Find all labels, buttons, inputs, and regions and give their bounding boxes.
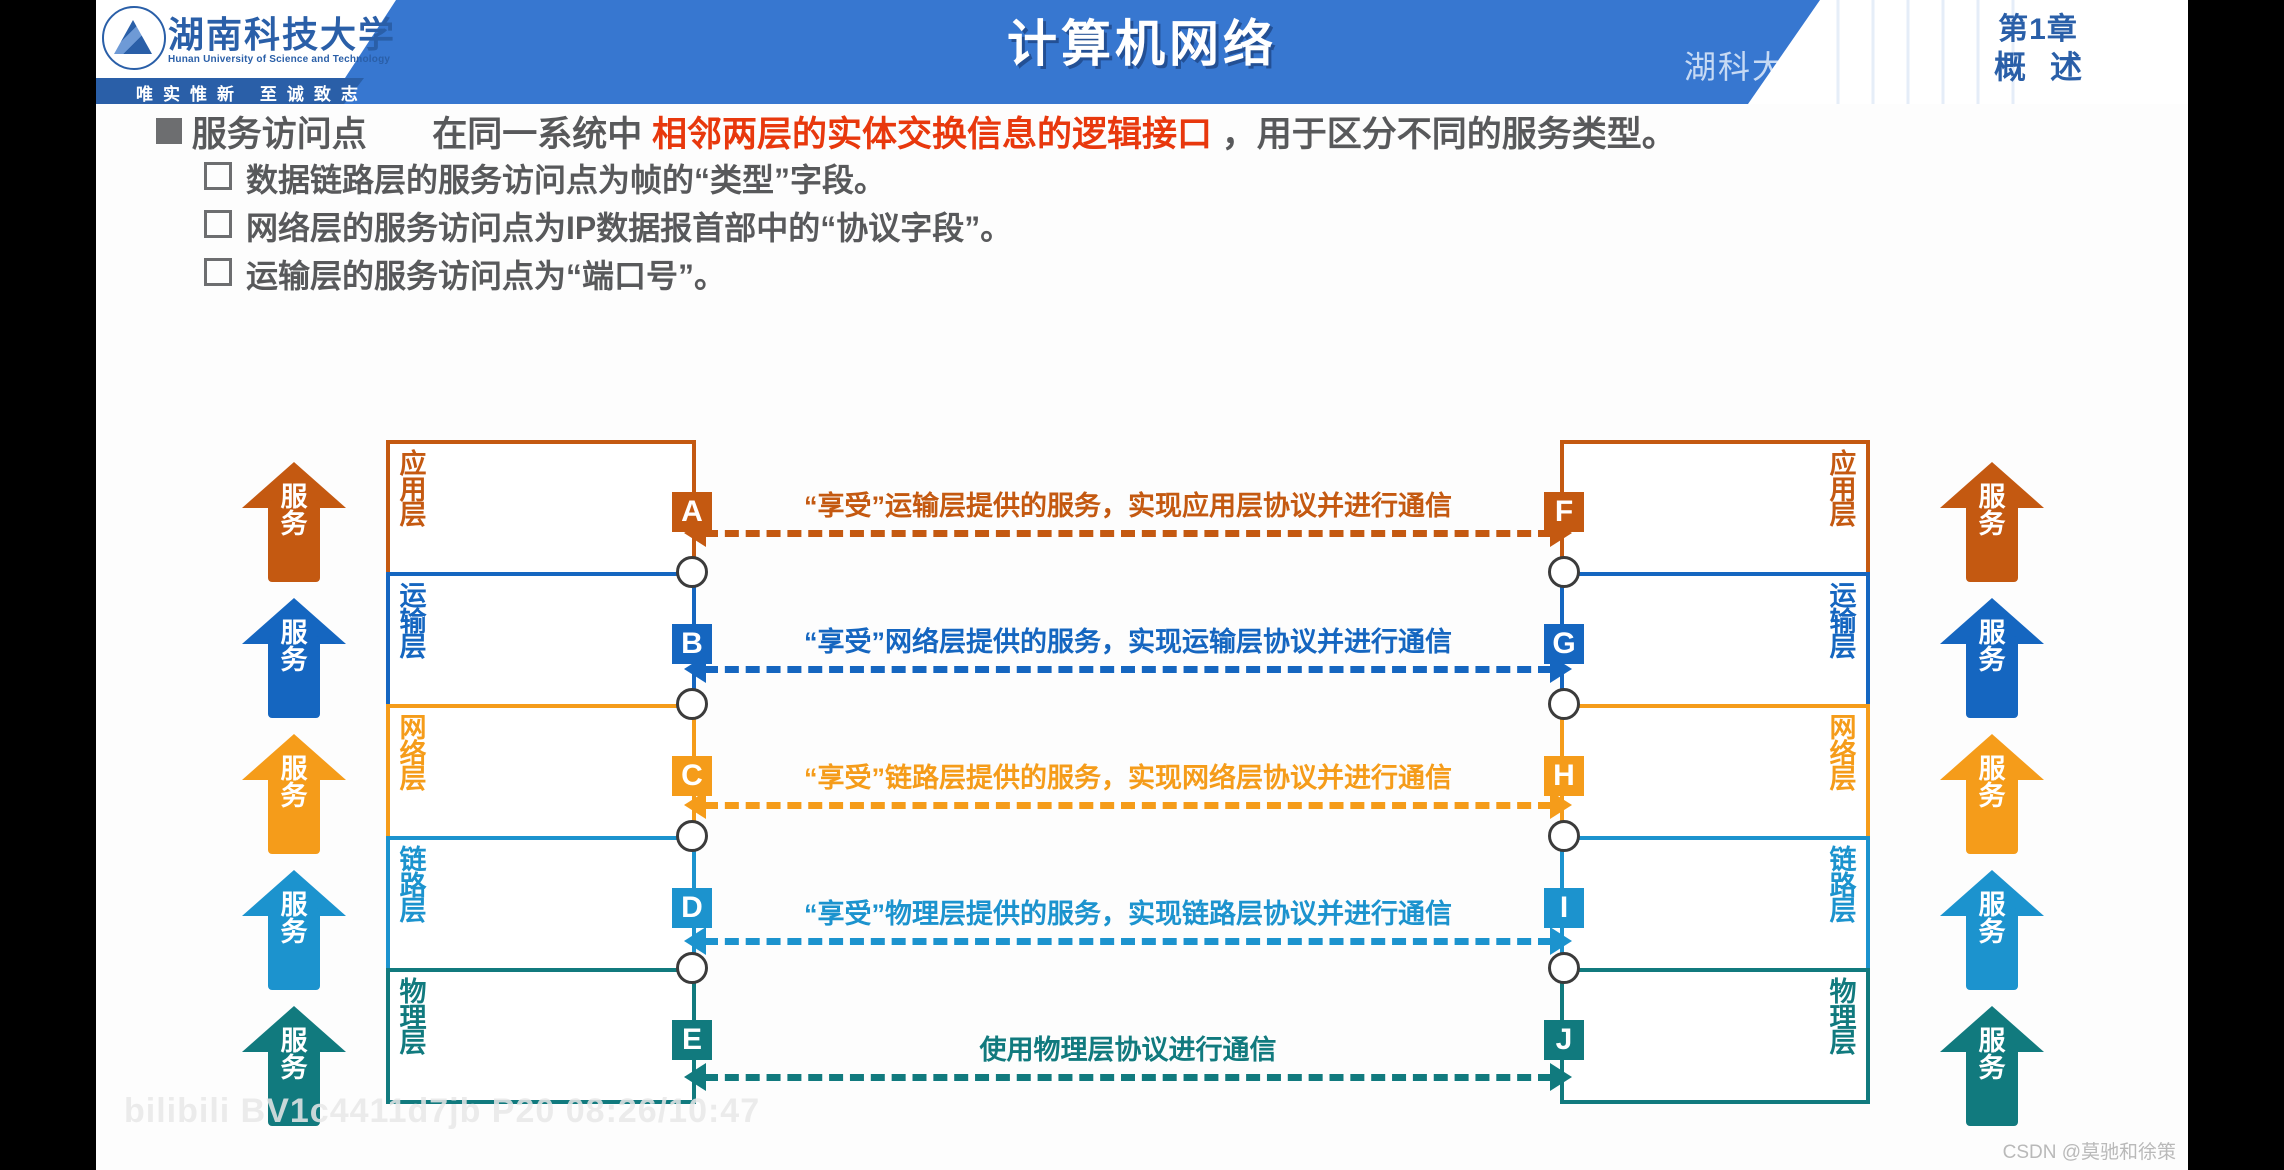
sub-bullet-2: 网络层的服务访问点为IP数据报首部中的“协议字段”。 (204, 203, 1012, 249)
layer-name: 运输层 (1828, 584, 1858, 661)
service-label-char: 务 (1940, 1055, 2044, 1082)
layer-name-char: 层 (1828, 1031, 1858, 1057)
service-label-char: 务 (1940, 783, 2044, 810)
peer-connection-line (704, 802, 1552, 809)
sap-circle-icon (676, 820, 708, 852)
arrow-right-icon (1550, 791, 1572, 819)
layer-box[interactable]: 运输层 B (386, 572, 696, 708)
service-arrow-label: 服务 (242, 756, 346, 810)
layer-name-char: 运 (398, 584, 428, 610)
slide-canvas: 湖南科技大学 Hunan University of Science and T… (96, 0, 2188, 1170)
sub-bullet-3: 运输层的服务访问点为“端口号”。 (204, 251, 726, 297)
layer-box[interactable]: 运输层 G (1560, 572, 1870, 708)
layer-name: 链路层 (398, 848, 428, 925)
bullet-outline-square-icon (204, 210, 232, 238)
layer-name-char: 层 (398, 503, 428, 529)
service-arrow-label: 服务 (242, 1028, 346, 1082)
service-label-char: 务 (242, 1055, 346, 1082)
main-bullet: 服务访问点 在同一系统中 相邻两层的实体交换信息的逻辑接口 ，用于区分不同的服务… (156, 106, 1677, 157)
service-label-char: 务 (1940, 919, 2044, 946)
service-label-char: 服 (1940, 620, 2044, 647)
arrow-left-icon (684, 791, 706, 819)
service-label-char: 服 (1940, 892, 2044, 919)
service-label-char: 服 (1940, 1028, 2044, 1055)
peer-connection-line (704, 530, 1552, 537)
layer-name-char: 应 (1828, 452, 1858, 478)
service-arrow-label: 服务 (1940, 620, 2044, 674)
layer-name-char: 应 (398, 452, 428, 478)
layer-name: 物理层 (398, 980, 428, 1057)
service-arrow-left-1: 服务 (242, 462, 346, 582)
layer-name-char: 层 (1828, 635, 1858, 661)
service-label-char: 服 (242, 756, 346, 783)
arrow-right-icon (1550, 519, 1572, 547)
peer-connection-label: “享受”运输层提供的服务，实现应用层协议并进行通信 (684, 484, 1572, 523)
layer-name: 应用层 (1828, 452, 1858, 529)
arrow-right-icon (1550, 927, 1572, 955)
layer-name-char: 链 (398, 848, 428, 874)
service-label-char: 服 (1940, 756, 2044, 783)
service-label-char: 服 (1940, 484, 2044, 511)
service-arrow-label: 服务 (1940, 756, 2044, 810)
service-arrow-right-4: 服务 (1940, 870, 2044, 990)
bullet-square-icon (156, 118, 182, 144)
service-arrow-label: 服务 (242, 484, 346, 538)
service-label-char: 务 (242, 919, 346, 946)
service-arrow-right-2: 服务 (1940, 598, 2044, 718)
peer-connection-line (704, 938, 1552, 945)
bullet-outline-square-icon (204, 258, 232, 286)
service-label-char: 务 (1940, 647, 2044, 674)
service-arrow-label: 服务 (242, 892, 346, 946)
layer-box[interactable]: 物理层 E (386, 968, 696, 1104)
protocol-stack-left: 应用层 A 运输层 B 网络层 C 链路层 D (386, 440, 696, 1104)
csdn-watermark: CSDN @莫驰和徐策 (2003, 1137, 2176, 1164)
layer-name-char: 层 (1828, 767, 1858, 793)
slide-header: 湖南科技大学 Hunan University of Science and T… (96, 0, 2188, 104)
sap-circle-icon (1548, 952, 1580, 984)
sap-circle-icon (676, 688, 708, 720)
peer-connection-label: “享受”链路层提供的服务，实现网络层协议并进行通信 (684, 756, 1572, 795)
service-arrow-left-3: 服务 (242, 734, 346, 854)
layer-name-char: 层 (398, 767, 428, 793)
layer-name: 网络层 (398, 716, 428, 793)
layered-protocol-diagram: 服务 服务 服务 服务 服务 (96, 300, 2188, 1170)
service-label-char: 务 (242, 783, 346, 810)
service-label-char: 务 (242, 511, 346, 538)
peer-connection-line (704, 1074, 1552, 1081)
layer-name: 应用层 (398, 452, 428, 529)
arrow-left-icon (684, 927, 706, 955)
arrow-right-icon (1550, 1063, 1572, 1091)
sub-bullet-1: 数据链路层的服务访问点为帧的“类型”字段。 (204, 155, 886, 201)
service-arrow-label: 服务 (1940, 484, 2044, 538)
layer-name: 链路层 (1828, 848, 1858, 925)
layer-box[interactable]: 物理层 J (1560, 968, 1870, 1104)
layer-name-char: 网 (1828, 716, 1858, 742)
service-label-char: 服 (242, 1028, 346, 1055)
service-label-char: 服 (242, 484, 346, 511)
arrow-right-icon (1550, 655, 1572, 683)
service-arrow-right-1: 服务 (1940, 462, 2044, 582)
main-bullet-lead: 在同一系统中 (432, 115, 642, 154)
layer-name-char: 层 (398, 1031, 428, 1057)
service-arrow-left-2: 服务 (242, 598, 346, 718)
service-arrow-label: 服务 (1940, 1028, 2044, 1082)
slide-screenshot: 湖南科技大学 Hunan University of Science and T… (0, 0, 2284, 1170)
peer-connection-label: “享受”网络层提供的服务，实现运输层协议并进行通信 (684, 620, 1572, 659)
layer-box[interactable]: 网络层 H (1560, 704, 1870, 840)
sap-circle-icon (1548, 688, 1580, 720)
service-arrow-label: 服务 (1940, 892, 2044, 946)
layer-name: 物理层 (1828, 980, 1858, 1057)
sub-bullet-3-text: 运输层的服务访问点为“端口号”。 (246, 258, 726, 294)
peer-connection-label: “享受”物理层提供的服务，实现链路层协议并进行通信 (684, 892, 1572, 931)
peer-connection-label: 使用物理层协议进行通信 (684, 1028, 1572, 1067)
service-label-char: 务 (242, 647, 346, 674)
sub-bullet-1-text: 数据链路层的服务访问点为帧的“类型”字段。 (246, 162, 886, 198)
sap-circle-icon (676, 556, 708, 588)
service-label-char: 服 (242, 892, 346, 919)
service-arrow-right-3: 服务 (1940, 734, 2044, 854)
layer-name: 运输层 (398, 584, 428, 661)
service-label-char: 务 (1940, 511, 2044, 538)
bilibili-watermark: bilibili BV1c4411d7jb P20 08:26/10:47 (124, 1092, 760, 1131)
main-bullet-tail: ，用于区分不同的服务类型。 (1222, 115, 1677, 154)
chapter-name: 概述 (1918, 42, 2158, 88)
layer-name-char: 层 (1828, 503, 1858, 529)
layer-name-char: 链 (1828, 848, 1858, 874)
layer-box[interactable]: 应用层 F (1560, 440, 1870, 576)
service-arrow-label: 服务 (242, 620, 346, 674)
arrow-left-icon (684, 519, 706, 547)
layer-box[interactable]: 链路层 D (386, 836, 696, 972)
layer-box[interactable]: 应用层 A (386, 440, 696, 576)
protocol-stack-right: 应用层 F 运输层 G 网络层 H 链路层 I (1560, 440, 1870, 1104)
peer-connection-line (704, 666, 1552, 673)
layer-name-char: 层 (398, 635, 428, 661)
sub-bullet-2-text: 网络层的服务访问点为IP数据报首部中的“协议字段”。 (246, 210, 1012, 246)
layer-name-char: 层 (398, 899, 428, 925)
layer-name-char: 物 (1828, 980, 1858, 1006)
main-bullet-term: 服务访问点 (192, 115, 367, 154)
sap-circle-icon (1548, 820, 1580, 852)
layer-name-char: 网 (398, 716, 428, 742)
layer-box[interactable]: 网络层 C (386, 704, 696, 840)
service-label-char: 服 (242, 620, 346, 647)
arrow-left-icon (684, 655, 706, 683)
layer-name-char: 运 (1828, 584, 1858, 610)
sap-circle-icon (676, 952, 708, 984)
bullet-outline-square-icon (204, 162, 232, 190)
layer-name-char: 物 (398, 980, 428, 1006)
main-bullet-highlight: 相邻两层的实体交换信息的逻辑接口 (652, 115, 1212, 154)
sap-circle-icon (1548, 556, 1580, 588)
layer-name: 网络层 (1828, 716, 1858, 793)
layer-name-char: 层 (1828, 899, 1858, 925)
layer-box[interactable]: 链路层 I (1560, 836, 1870, 972)
service-arrow-right-5: 服务 (1940, 1006, 2044, 1126)
service-arrow-left-4: 服务 (242, 870, 346, 990)
university-motto: 唯实惟新 至诚致志 (136, 80, 368, 104)
arrow-left-icon (684, 1063, 706, 1091)
